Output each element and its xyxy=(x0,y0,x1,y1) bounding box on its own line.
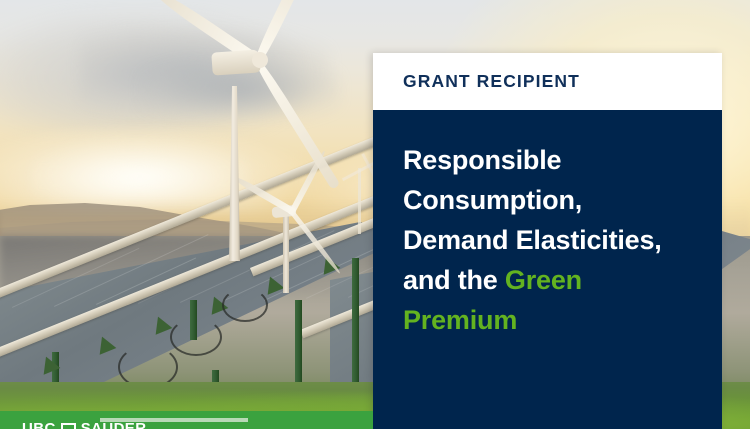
grant-recipient-label: GRANT RECIPIENT xyxy=(403,71,580,92)
project-title-line-4: and the xyxy=(403,265,505,295)
project-title-line-3: Demand Elasticities, xyxy=(403,225,662,255)
ubc-crest-icon xyxy=(61,423,76,429)
footer-divider-rule xyxy=(100,418,248,422)
project-title-line-2: Consumption, xyxy=(403,185,582,215)
turbine-secondary-blade-3 xyxy=(289,209,342,275)
project-title-line-1: Responsible xyxy=(403,145,561,175)
turbine-far-mast xyxy=(358,168,361,234)
card-header: GRANT RECIPIENT xyxy=(373,53,722,110)
project-title: Responsible Consumption, Demand Elastici… xyxy=(403,140,696,340)
turbine-main-hub-nose xyxy=(252,52,268,68)
grant-recipient-card: GRANT RECIPIENT Responsible Consumption,… xyxy=(373,53,722,429)
card-body: Responsible Consumption, Demand Elastici… xyxy=(373,110,722,429)
ubc-wordmark: UBC xyxy=(22,420,56,429)
turbine-main-blade-3 xyxy=(251,56,340,190)
turbine-secondary-blade-1 xyxy=(231,174,295,215)
turbine-main-mast xyxy=(229,86,240,261)
project-title-highlight-green: Green xyxy=(505,265,582,295)
turbine-secondary-mast xyxy=(283,215,289,293)
project-title-highlight-premium: Premium xyxy=(403,305,517,335)
